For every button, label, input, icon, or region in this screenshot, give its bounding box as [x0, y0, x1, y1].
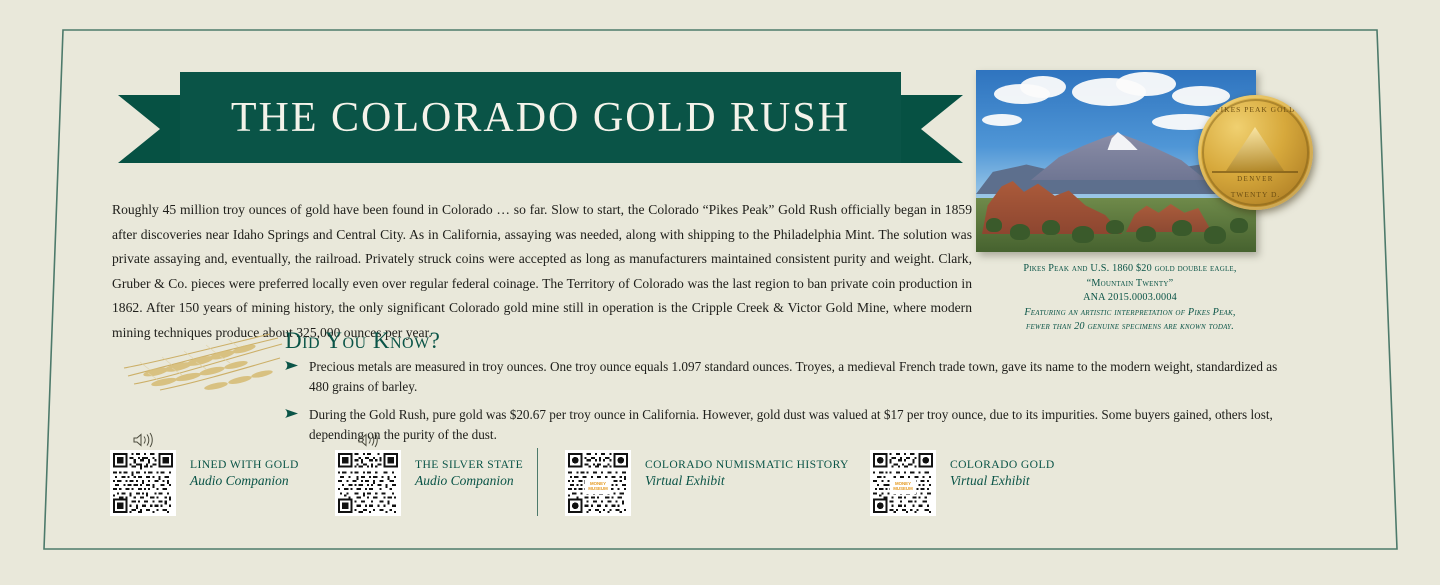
coin-exergue-line [1212, 171, 1298, 173]
qr-link-colorado-numismatic-history[interactable]: MONEY MUSEUM COLORADO NUMISMATIC HISTORY… [565, 432, 849, 521]
badge-line-2: MUSEUM [893, 486, 913, 491]
qr-link-title: COLORADO GOLD [950, 458, 1055, 472]
qr-link-the-silver-state[interactable]: THE SILVER STATE Audio Companion [335, 432, 523, 521]
caption-line-2: “Mountain Twenty” [965, 277, 1295, 292]
speaker-icon [132, 432, 154, 448]
arrow-bullet-icon [285, 360, 299, 371]
tree [986, 218, 1002, 232]
caption-line-4: Featuring an artistic interpretation of … [965, 306, 1295, 320]
qr-link-subtitle: Virtual Exhibit [950, 473, 1055, 489]
cloud [982, 114, 1022, 126]
qr-link-colorado-gold[interactable]: MONEY MUSEUM COLORADO GOLD Virtual Exhib… [870, 432, 1055, 521]
tree [1010, 224, 1030, 240]
cloud [1116, 72, 1176, 96]
qr-link-title: LINED WITH GOLD [190, 458, 299, 472]
tree [1230, 218, 1248, 233]
caption-line-5: fewer than 20 genuine specimens are know… [965, 320, 1295, 334]
badge-line-2: MUSEUM [588, 486, 608, 491]
qr-link-title: COLORADO NUMISMATIC HISTORY [645, 458, 849, 472]
qr-link-title: THE SILVER STATE [415, 458, 523, 472]
caption-line-1: Pikes Peak and U.S. 1860 $20 gold double… [965, 262, 1295, 277]
qr-link-lined-with-gold[interactable]: LINED WITH GOLD Audio Companion [110, 432, 299, 521]
tree [1136, 226, 1156, 242]
ribbon-body: THE COLORADO GOLD RUSH [180, 72, 901, 163]
tree [1204, 226, 1226, 244]
footer-divider [537, 448, 538, 516]
gold-double-eagle-coin: PIKES PEAK GOLD DENVER TWENTY D. [1198, 95, 1313, 210]
money-museum-badge: MONEY MUSEUM [585, 478, 611, 494]
tree [1172, 220, 1192, 236]
qr-link-subtitle: Audio Companion [415, 473, 523, 489]
qr-link-subtitle: Virtual Exhibit [645, 473, 849, 489]
caption-accession-number: ANA 2015.0003.0004 [965, 291, 1295, 306]
speaker-icon [357, 432, 379, 448]
title-ribbon: THE COLORADO GOLD RUSH [118, 72, 963, 187]
qr-link-subtitle: Audio Companion [190, 473, 299, 489]
tree [1106, 220, 1124, 234]
money-museum-badge: MONEY MUSEUM [890, 478, 916, 494]
list-item: Precious metals are measured in troy oun… [285, 357, 1295, 397]
photo-caption: Pikes Peak and U.S. 1860 $20 gold double… [965, 262, 1295, 334]
did-you-know-heading: Did You Know? [285, 328, 440, 354]
tree [1072, 226, 1094, 243]
qr-links-row: LINED WITH GOLD Audio Companion [110, 432, 1120, 527]
coin-legend-bottom: TWENTY D. [1198, 190, 1313, 199]
list-item-text: Precious metals are measured in troy oun… [309, 357, 1295, 397]
page-title: THE COLORADO GOLD RUSH [231, 94, 850, 142]
cloud [1172, 86, 1230, 106]
coin-mintmark: DENVER [1198, 175, 1313, 183]
coin-legend-top: PIKES PEAK GOLD [1198, 105, 1313, 114]
qr-code[interactable] [335, 450, 401, 516]
arrow-bullet-icon [285, 408, 299, 419]
intro-paragraph: Roughly 45 million troy ounces of gold h… [112, 198, 972, 346]
tree [1042, 220, 1060, 235]
exhibit-panel: THE COLORADO GOLD RUSH Roughly 45 millio… [0, 0, 1440, 585]
cloud [1020, 76, 1066, 98]
qr-code[interactable] [110, 450, 176, 516]
wheat-stalks-illustration [120, 332, 290, 394]
